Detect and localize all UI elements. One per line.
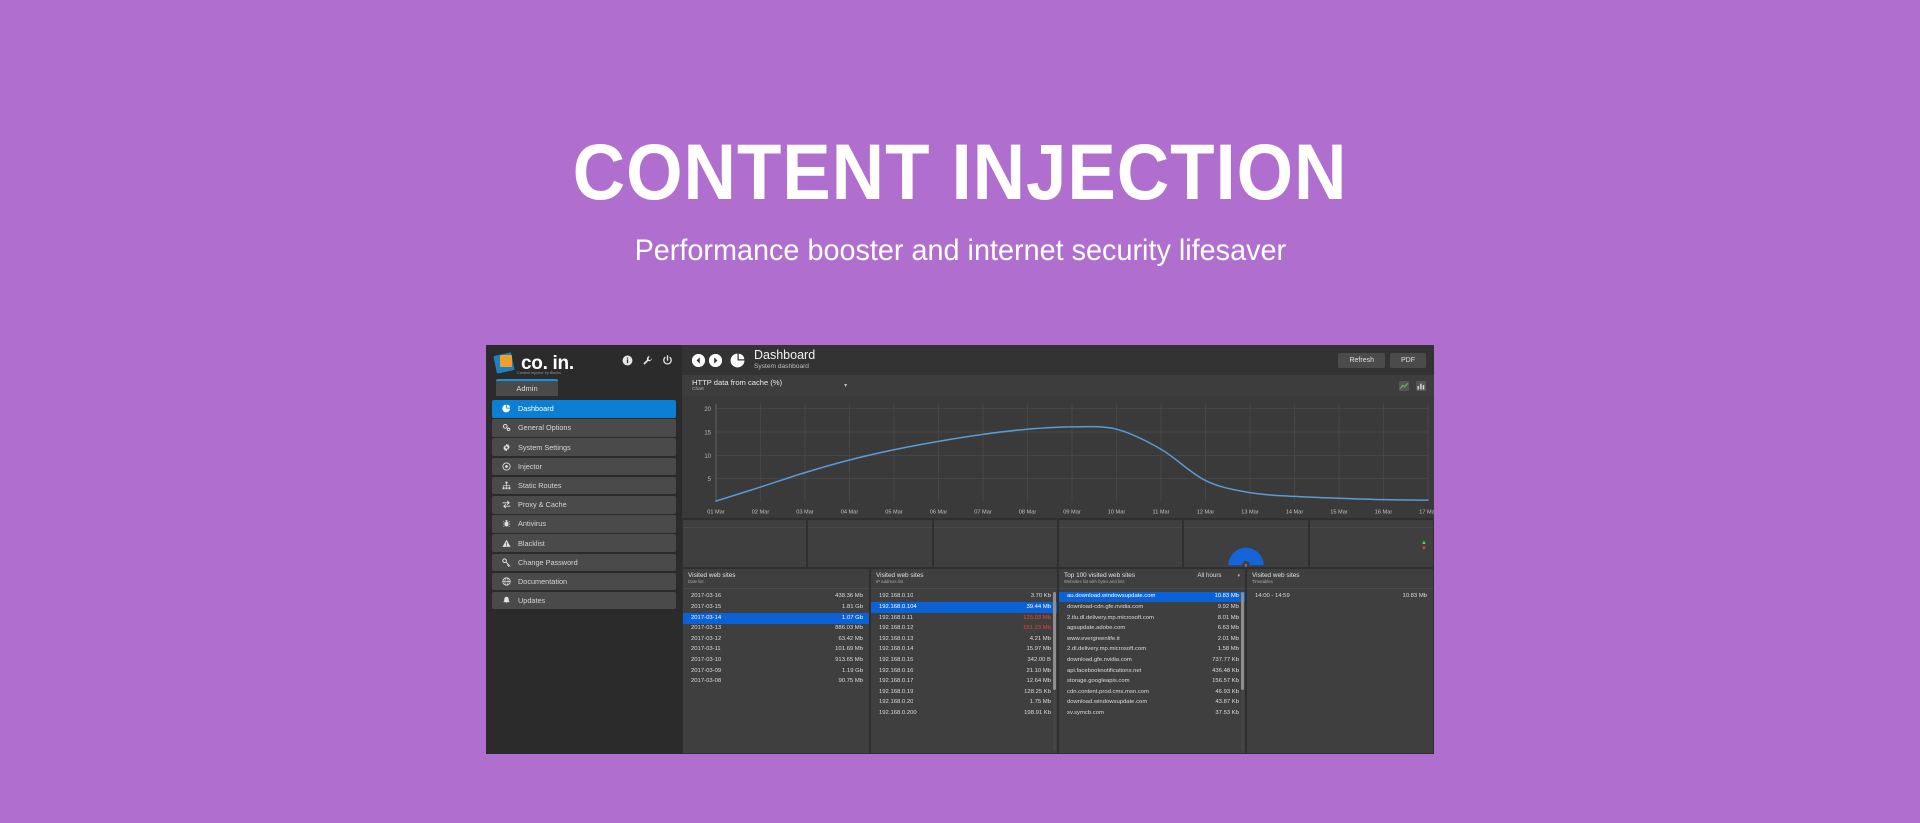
sidebar-menu: DashboardGeneral OptionsSystem SettingsI… [486, 396, 682, 609]
list-item[interactable]: 192.168.0.1712.64 Mb [871, 677, 1057, 688]
list-item-label: api.facebooknotifications.net [1067, 667, 1141, 676]
timetable-list[interactable]: 14:00 - 14:5910.83 Mb [1247, 589, 1433, 753]
panel-subtitle: Websites list with bytes and hits [1064, 580, 1135, 585]
list-item-label: 2017-03-15 [691, 603, 721, 612]
info-icon[interactable] [622, 355, 633, 366]
list-item-label: 192.168.0.104 [879, 603, 917, 612]
list-item[interactable]: www.evergreenlife.it2.01 Mb [1059, 634, 1245, 645]
svg-text:13 Mar: 13 Mar [1241, 510, 1259, 516]
sidebar-item-label: Dashboard [518, 404, 554, 413]
list-item-value: 101.69 Mb [835, 645, 863, 654]
banner-subtitle: Performance booster and internet securit… [634, 234, 1286, 268]
stat-card-hdd [934, 520, 1057, 567]
svg-text:07 Mar: 07 Mar [974, 510, 992, 516]
list-item-value: 63.42 Mb [838, 635, 863, 644]
list-item-label: 192.168.0.15 [879, 656, 913, 665]
list-item-label: storage.googleapis.com [1067, 677, 1130, 686]
list-item[interactable]: au.download.windowsupdate.com10.83 Mb [1059, 592, 1245, 603]
list-item-label: 2017-03-08 [691, 677, 721, 686]
svg-text:10: 10 [704, 454, 711, 460]
list-item[interactable]: 2017-03-151.81 Gb [683, 602, 869, 613]
list-item-value: 90.75 Mb [838, 677, 863, 686]
stat-card-net: ▲▼ [1310, 520, 1433, 567]
scrollbar[interactable] [1053, 592, 1056, 751]
chevron-down-icon: ▾ [1237, 574, 1240, 580]
list-item-value: 12.64 Mb [1026, 677, 1051, 686]
sidebar-item-label: Documentation [518, 577, 567, 586]
list-item[interactable]: 192.168.0.15342.00 B [871, 655, 1057, 666]
navigation-buttons [692, 353, 745, 368]
ip-address-list[interactable]: 192.168.0.103.70 Kb192.168.0.10439.44 Mb… [871, 589, 1057, 753]
list-item-label: 2.dl.delivery.mp.microsoft.com [1067, 645, 1146, 654]
list-item-value: 4.21 Mb [1030, 635, 1051, 644]
sidebar-item-label: Change Password [518, 558, 578, 567]
list-item-value: 10.83 Mb [1402, 592, 1427, 601]
svg-text:11 Mar: 11 Mar [1153, 510, 1170, 516]
sidebar-item-label: Injector [518, 462, 542, 471]
list-item[interactable]: 192.168.0.200198.91 Kb [871, 708, 1057, 719]
svg-text:05 Mar: 05 Mar [885, 510, 903, 516]
list-item[interactable]: cdn.content.prod.cms.msn.com46.93 Kb [1059, 687, 1245, 698]
sidebar-item-updates[interactable]: Updates [492, 592, 676, 610]
book-globe-icon [501, 576, 512, 587]
list-item[interactable]: 2017-03-13886.03 Mb [683, 624, 869, 635]
svg-text:12 Mar: 12 Mar [1197, 510, 1215, 516]
list-item-value: 9.92 Mb [1218, 603, 1239, 612]
list-item[interactable]: 192.168.0.201.75 Mb [871, 698, 1057, 709]
arrow-down-icon: ▼ [1421, 546, 1427, 552]
gear-icon [501, 442, 512, 453]
scrollbar[interactable] [1241, 592, 1244, 751]
list-item[interactable]: 192.168.0.12151.23 Mb [871, 624, 1057, 635]
list-item[interactable]: storage.googleapis.com156.57 Kb [1059, 677, 1245, 688]
warning-icon [501, 538, 512, 549]
chart-svg: 510152001 Mar02 Mar03 Mar04 Mar05 Mar06 … [682, 396, 1434, 518]
chevron-down-icon[interactable]: ▾ [844, 382, 847, 389]
chart-title: HTTP data from cache (%) [692, 379, 782, 387]
list-item[interactable]: 192.168.0.11125.03 Mb [871, 613, 1057, 624]
list-item-value: 1.07 Gb [842, 614, 863, 623]
list-item[interactable]: 2017-03-0890.75 Mb [683, 677, 869, 688]
svg-text:10 Mar: 10 Mar [1108, 510, 1126, 516]
stat-card-ram [1059, 520, 1182, 567]
logo-icon [495, 351, 519, 373]
chart-panel: HTTP data from cache (%) Chart ▾ 5101520… [682, 375, 1434, 518]
list-item-label: 2.tlu.dl.delivery.mp.microsoft.com [1067, 614, 1154, 623]
sidebar-item-label: Static Routes [518, 481, 561, 490]
list-item-label: agsupdate.adobe.com [1067, 624, 1125, 633]
line-chart-icon[interactable] [1399, 381, 1409, 391]
scrollbar-thumb[interactable] [1241, 592, 1244, 691]
pie-chart-icon [501, 403, 512, 414]
list-item-label: download-cdn.gfe.nvidia.com [1067, 603, 1143, 612]
list-item-label: sv.symcb.com [1067, 709, 1104, 718]
stat-card-cpu: 0 [1184, 520, 1307, 567]
sidebar-item-injector[interactable]: Injector [492, 458, 676, 476]
list-item-value: 1.75 Mb [1030, 698, 1051, 707]
sidebar-tab-admin[interactable]: Admin [496, 379, 558, 396]
list-item-value: 6.63 Mb [1218, 624, 1239, 633]
power-icon[interactable] [662, 355, 673, 366]
gears-icon [501, 422, 512, 433]
sidebar-header: co. in. Content injector by Blocks [486, 345, 682, 379]
list-item-label: 2017-03-11 [691, 645, 721, 654]
pie-chart-icon [730, 353, 745, 368]
app-logo[interactable]: co. in. [495, 351, 574, 373]
list-item-label: www.evergreenlife.it [1067, 635, 1120, 644]
svg-text:15 Mar: 15 Mar [1330, 510, 1348, 516]
panel-title: Visited web sites [876, 572, 923, 579]
sidebar-item-label: Updates [518, 596, 545, 605]
list-item[interactable]: 192.168.0.19128.25 Kb [871, 687, 1057, 698]
list-item-label: download.windowsupdate.com [1067, 698, 1147, 707]
list-item-value: 198.91 Kb [1024, 709, 1051, 718]
logo-tagline: Content injector by Blocks [517, 371, 561, 375]
sidebar-item-label: Antivirus [518, 519, 546, 528]
sidebar-header-icons [622, 355, 673, 366]
panel-visited-by-ip: Visited web sites IP address list 192.16… [871, 569, 1057, 753]
list-item-label: 192.168.0.14 [879, 645, 913, 654]
list-item[interactable]: 192.168.0.1415.97 Mb [871, 645, 1057, 656]
list-item-label: au.download.windowsupdate.com [1067, 592, 1155, 601]
application-window: co. in. Content injector by Blocks Admin… [486, 345, 1434, 754]
date-list[interactable]: 2017-03-16438.36 Mb2017-03-151.81 Gb2017… [683, 589, 869, 753]
list-item[interactable]: agsupdate.adobe.com6.63 Mb [1059, 624, 1245, 635]
list-item[interactable]: 2.tlu.dl.delivery.mp.microsoft.com8.01 M… [1059, 613, 1245, 624]
stat-card-cache-size [808, 520, 931, 567]
wrench-icon[interactable] [642, 355, 653, 366]
chart-subtitle: Chart [692, 387, 782, 392]
list-item-value: 39.44 Mb [1026, 603, 1051, 612]
target-icon [501, 461, 512, 472]
panel-title: Top 100 visited web sites [1064, 572, 1135, 579]
list-item-value: 125.03 Mb [1023, 614, 1051, 623]
list-item-label: 192.168.0.16 [879, 667, 913, 676]
page-title: Dashboard [754, 349, 815, 362]
svg-text:08 Mar: 08 Mar [1019, 510, 1037, 516]
list-item-value: 2.01 Mb [1218, 635, 1239, 644]
panel-subtitle: Timetables [1252, 580, 1299, 585]
sidebar-item-antivirus[interactable]: Antivirus [492, 515, 676, 533]
list-item-value: 342.00 B [1027, 656, 1051, 665]
list-item-label: download.gfe.nvidia.com [1067, 656, 1132, 665]
panel-top-100-sites: Top 100 visited web sites Websites list … [1059, 569, 1245, 753]
stat-cards: 0▲▼ [682, 518, 1434, 569]
promo-banner: CONTENT INJECTION Performance booster an… [0, 0, 1920, 340]
list-item[interactable]: 2017-03-1263.42 Mb [683, 634, 869, 645]
arrow-right-icon[interactable] [709, 354, 722, 367]
panel-subtitle: Date list [688, 580, 735, 585]
bug-icon [501, 518, 512, 529]
list-item[interactable]: sv.symcb.com37.53 Kb [1059, 708, 1245, 719]
list-item[interactable]: 2017-03-11101.69 Mb [683, 645, 869, 656]
panel-visited-by-date: Visited web sites Date list 2017-03-1643… [683, 569, 869, 753]
panel-title: Visited web sites [1252, 572, 1299, 579]
list-item[interactable]: 192.168.0.10439.44 Mb [871, 602, 1057, 613]
list-item-value: 128.25 Kb [1024, 688, 1051, 697]
sitemap-icon [501, 480, 512, 491]
svg-text:02 Mar: 02 Mar [752, 510, 770, 516]
sidebar: co. in. Content injector by Blocks Admin… [486, 345, 682, 754]
list-item-value: 436.48 Kb [1212, 667, 1239, 676]
pdf-button[interactable]: PDF [1390, 353, 1426, 368]
list-item[interactable]: download-cdn.gfe.nvidia.com9.92 Mb [1059, 602, 1245, 613]
cpu-load-gauge: 0 [1184, 527, 1307, 567]
hours-filter-label: All hours [1197, 573, 1221, 580]
list-item-label: 192.168.0.20 [879, 698, 913, 707]
toolbar-actions: Refresh PDF [1338, 353, 1426, 368]
list-item-label: 2017-03-12 [691, 635, 721, 644]
scrollbar-thumb[interactable] [1053, 592, 1056, 691]
list-item[interactable]: 192.168.0.103.70 Kb [871, 592, 1057, 603]
list-item-value: 886.03 Mb [835, 624, 863, 633]
list-item-label: 2017-03-10 [691, 656, 721, 665]
sidebar-item-label: General Options [518, 423, 571, 432]
list-item-value: 1.19 Gb [842, 667, 863, 676]
list-item-label: 192.168.0.10 [879, 592, 913, 601]
list-item-label: cdn.content.prod.cms.msn.com [1067, 688, 1149, 697]
bar-chart-icon[interactable] [1416, 381, 1426, 391]
list-item-label: 192.168.0.12 [879, 624, 913, 633]
sidebar-item-documentation[interactable]: Documentation [492, 573, 676, 591]
svg-text:01 Mar: 01 Mar [707, 510, 725, 516]
page-heading: Dashboard System dashboard [754, 349, 815, 370]
list-item-label: 192.168.0.17 [879, 677, 913, 686]
sidebar-item-label: Proxy & Cache [518, 500, 567, 509]
page-subtitle: System dashboard [754, 364, 815, 371]
list-item-value: 913.65 Mb [835, 656, 863, 665]
list-item-label: 14:00 - 14:59 [1255, 592, 1290, 601]
refresh-button[interactable]: Refresh [1338, 353, 1385, 368]
list-item-value: 10.83 Mb [1214, 592, 1239, 601]
arrow-left-icon[interactable] [692, 354, 705, 367]
sidebar-item-label: Blacklist [518, 539, 545, 548]
list-item-value: 46.93 Kb [1215, 688, 1239, 697]
list-item[interactable]: 2.dl.delivery.mp.microsoft.com1.58 Mb [1059, 645, 1245, 656]
chart-canvas: 510152001 Mar02 Mar03 Mar04 Mar05 Mar06 … [682, 396, 1434, 518]
list-item[interactable]: api.facebooknotifications.net436.48 Kb [1059, 666, 1245, 677]
list-item-value: 21.10 Mb [1026, 667, 1051, 676]
svg-text:06 Mar: 06 Mar [930, 510, 948, 516]
svg-text:17 Mar: 17 Mar [1419, 510, 1434, 516]
svg-text:15: 15 [704, 431, 711, 437]
svg-text:16 Mar: 16 Mar [1375, 510, 1393, 516]
list-item-label: 192.168.0.11 [879, 614, 913, 623]
list-item-label: 2017-03-13 [691, 624, 721, 633]
main-content: Dashboard System dashboard Refresh PDF H… [682, 345, 1434, 754]
svg-text:04 Mar: 04 Mar [841, 510, 859, 516]
panel-title: Visited web sites [688, 572, 735, 579]
svg-text:03 Mar: 03 Mar [796, 510, 814, 516]
list-item-value: 37.53 Kb [1215, 709, 1239, 718]
list-item[interactable]: 14:00 - 14:5910.83 Mb [1247, 592, 1433, 603]
list-item-value: 737.77 Kb [1212, 656, 1239, 665]
exchange-icon [501, 499, 512, 510]
list-item[interactable]: download.gfe.nvidia.com737.77 Kb [1059, 655, 1245, 666]
banner-title: CONTENT INJECTION [573, 132, 1348, 211]
svg-text:5: 5 [708, 477, 712, 483]
list-item-label: 192.168.0.19 [879, 688, 913, 697]
bottom-panels: Visited web sites Date list 2017-03-1643… [682, 569, 1434, 754]
list-item-value: 8.01 Mb [1218, 614, 1239, 623]
panel-visited-timetable: Visited web sites Timetables 14:00 - 14:… [1247, 569, 1433, 753]
chart-header: HTTP data from cache (%) Chart ▾ [682, 375, 1434, 396]
list-item-label: 2017-03-14 [691, 614, 721, 623]
list-item-value: 1.81 Gb [842, 603, 863, 612]
list-item[interactable]: 192.168.0.1621.10 Mb [871, 666, 1057, 677]
sidebar-item-dashboard[interactable]: Dashboard [492, 400, 676, 418]
list-item-value: 151.23 Mb [1023, 624, 1051, 633]
list-item-label: 192.168.0.200 [879, 709, 917, 718]
list-item[interactable]: 2017-03-091.19 Gb [683, 666, 869, 677]
list-item-label: 192.168.0.13 [879, 635, 913, 644]
list-item-label: 2017-03-16 [691, 592, 721, 601]
bell-icon [501, 595, 512, 606]
list-item-value: 1.58 Mb [1218, 645, 1239, 654]
gauge-icon: 0 [1224, 543, 1268, 567]
stat-card-http-cache-response [683, 520, 806, 567]
svg-text:14 Mar: 14 Mar [1286, 510, 1304, 516]
list-item[interactable]: 2017-03-10913.65 Mb [683, 655, 869, 666]
sidebar-item-blacklist[interactable]: Blacklist [492, 534, 676, 552]
sidebar-item-label: System Settings [518, 443, 571, 452]
page-toolbar: Dashboard System dashboard Refresh PDF [682, 345, 1434, 375]
list-item[interactable]: 2017-03-141.07 Gb [683, 613, 869, 624]
sidebar-item-static-routes[interactable]: Static Routes [492, 477, 676, 495]
list-item-label: 2017-03-09 [691, 667, 721, 676]
sidebar-item-change-password[interactable]: Change Password [492, 554, 676, 572]
list-item-value: 438.36 Mb [835, 592, 863, 601]
list-item[interactable]: download.windowsupdate.com43.87 Kb [1059, 698, 1245, 709]
sidebar-item-system-settings[interactable]: System Settings [492, 438, 676, 456]
sidebar-item-proxy-cache[interactable]: Proxy & Cache [492, 496, 676, 514]
top-sites-list[interactable]: au.download.windowsupdate.com10.83 Mbdow… [1059, 589, 1245, 753]
list-item-value: 156.57 Kb [1212, 677, 1239, 686]
key-icon [501, 557, 512, 568]
list-item[interactable]: 2017-03-16438.36 Mb [683, 592, 869, 603]
list-item-value: 43.87 Kb [1215, 698, 1239, 707]
sidebar-item-general-options[interactable]: General Options [492, 419, 676, 437]
list-item[interactable]: 192.168.0.134.21 Mb [871, 634, 1057, 645]
panel-subtitle: IP address list [876, 580, 923, 585]
svg-text:20: 20 [704, 407, 711, 413]
list-item-value: 3.70 Kb [1031, 592, 1051, 601]
chart-tools [1399, 381, 1426, 391]
hours-filter-dropdown[interactable]: All hours ▾ [1197, 572, 1240, 580]
list-item-value: 15.97 Mb [1026, 645, 1051, 654]
svg-text:09 Mar: 09 Mar [1063, 510, 1081, 516]
